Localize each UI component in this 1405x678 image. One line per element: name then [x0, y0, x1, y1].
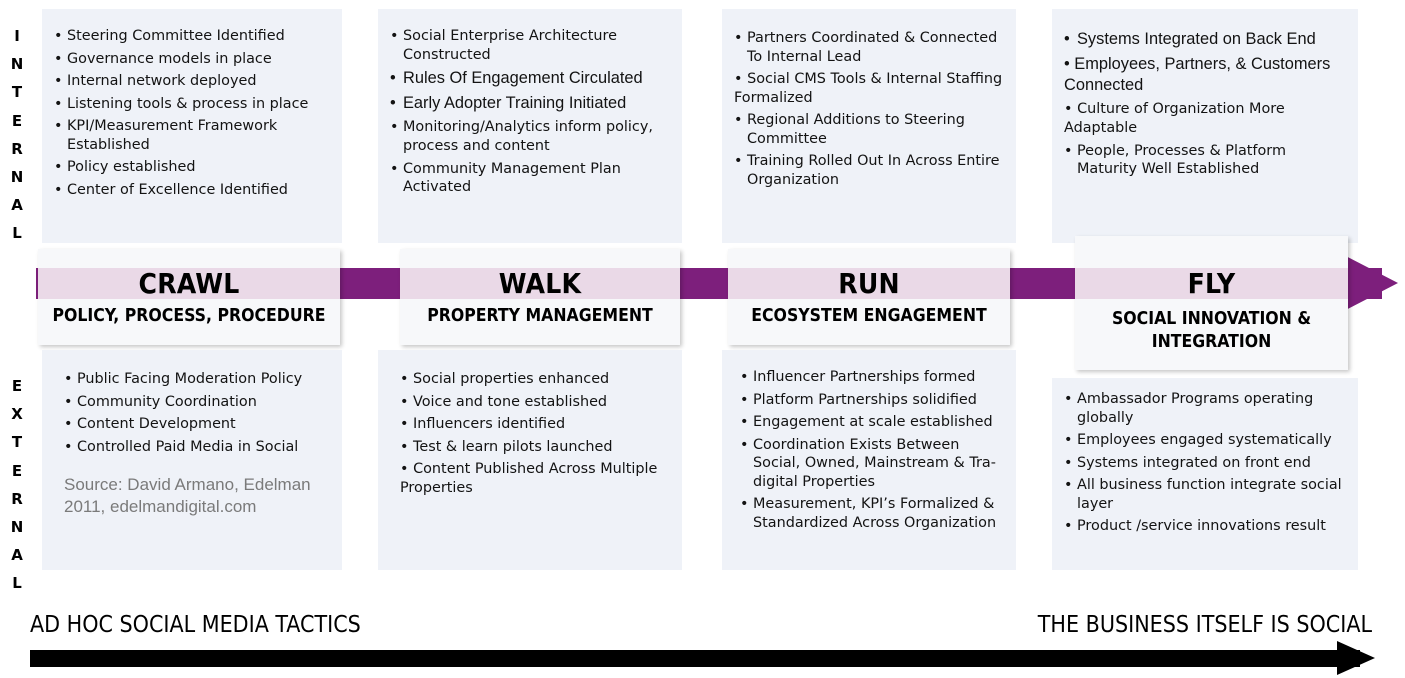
- list-item-text: Social CMS Tools & Internal Staffing For…: [734, 71, 1002, 106]
- list-item: • Content Published Across Multiple Prop…: [400, 460, 672, 497]
- internal-list-walk: Social Enterprise Architecture Construct…: [390, 27, 672, 197]
- list-item: Governance models in place: [54, 50, 332, 69]
- stage-subtitle: ECOSYSTEM ENGAGEMENT: [732, 305, 1006, 328]
- list-item: Content Development: [64, 415, 332, 434]
- list-item: Monitoring/Analytics inform policy, proc…: [390, 118, 672, 155]
- list-item: Early Adopter Training Initiated: [390, 93, 672, 114]
- axis-letter: T: [0, 78, 34, 106]
- list-item: Controlled Paid Media in Social: [64, 438, 332, 457]
- axis-letter: A: [0, 191, 34, 219]
- internal-panel-walk: Social Enterprise Architecture Construct…: [378, 9, 682, 243]
- list-item: • Social CMS Tools & Internal Staffing F…: [734, 70, 1008, 107]
- stage-box-fly[interactable]: FLY SOCIAL INNOVATION & INTEGRATION: [1075, 236, 1348, 370]
- list-item: • Culture of Organization More Adaptable: [1064, 100, 1348, 137]
- axis-letter: L: [0, 219, 34, 247]
- axis-letter: E: [0, 107, 34, 135]
- axis-letter: R: [0, 135, 34, 163]
- stage-title: CRAWL: [38, 265, 340, 302]
- external-panel-walk: Social properties enhanced Voice and ton…: [378, 350, 682, 570]
- external-panel-run: Influencer Partnerships formed Platform …: [722, 350, 1016, 570]
- list-item: Internal network deployed: [54, 72, 332, 91]
- stage-subtitle: PROPERTY MANAGEMENT: [404, 305, 676, 328]
- list-item: Platform Partnerships solidified: [740, 391, 1008, 410]
- list-item: Partners Coordinated & Connected To Inte…: [734, 29, 1008, 66]
- axis-label-external: E X T E R N A L: [0, 372, 34, 598]
- list-item: • Employees, Partners, & Customers Conne…: [1064, 54, 1348, 96]
- list-item: Test & learn pilots launched: [400, 438, 672, 457]
- stage-title: FLY: [1075, 265, 1348, 302]
- external-list-crawl: Public Facing Moderation Policy Communit…: [64, 370, 332, 456]
- list-item: Systems integrated on front end: [1064, 454, 1348, 473]
- source-credit: Source: David Armano, Edelman 2011, edel…: [64, 474, 332, 518]
- list-item: All business function integrate social l…: [1064, 476, 1348, 513]
- list-item: Influencer Partnerships formed: [740, 368, 1008, 387]
- internal-list-crawl: Steering Committee Identified Governance…: [54, 27, 332, 200]
- list-item: Rules Of Engagement Circulated: [390, 68, 672, 89]
- list-item: Steering Committee Identified: [54, 27, 332, 46]
- list-item: KPI/Measurement Framework Established: [54, 117, 332, 154]
- list-item: People, Processes & Platform Maturity We…: [1064, 142, 1348, 179]
- stage-box-run[interactable]: RUN ECOSYSTEM ENGAGEMENT: [728, 249, 1010, 345]
- stage-title: RUN: [728, 265, 1010, 302]
- maturity-arrow-head-icon: [1337, 641, 1375, 675]
- list-item: Public Facing Moderation Policy: [64, 370, 332, 389]
- list-item-text: Culture of Organization More Adaptable: [1064, 101, 1285, 136]
- internal-panel-crawl: Steering Committee Identified Governance…: [42, 9, 342, 243]
- list-item: Employees engaged systematically: [1064, 431, 1348, 450]
- list-item: Social Enterprise Architecture Construct…: [390, 27, 672, 64]
- axis-letter: I: [0, 22, 34, 50]
- stage-box-crawl[interactable]: CRAWL POLICY, PROCESS, PROCEDURE: [38, 249, 340, 345]
- axis-letter: E: [0, 457, 34, 485]
- stage-title: WALK: [400, 265, 680, 302]
- list-item: Community Coordination: [64, 393, 332, 412]
- external-list-run: Influencer Partnerships formed Platform …: [740, 368, 1008, 533]
- stage-subtitle: POLICY, PROCESS, PROCEDURE: [42, 305, 336, 328]
- list-item: Community Management Plan Activated: [390, 160, 672, 197]
- list-item: Listening tools & process in place: [54, 95, 332, 114]
- footer-label-left: AD HOC SOCIAL MEDIA TACTICS: [30, 612, 361, 638]
- internal-list-run: Partners Coordinated & Connected To Inte…: [734, 29, 1008, 190]
- list-item: Ambassador Programs operating globally: [1064, 390, 1348, 427]
- external-list-fly: Ambassador Programs operating globally E…: [1064, 390, 1348, 536]
- axis-letter: L: [0, 569, 34, 597]
- list-item: Regional Additions to Steering Committee: [734, 111, 1008, 148]
- list-item: Influencers identified: [400, 415, 672, 434]
- axis-letter: N: [0, 50, 34, 78]
- list-item-text: Employees, Partners, & Customers Connect…: [1064, 55, 1330, 94]
- list-item: Voice and tone established: [400, 393, 672, 412]
- external-list-walk: Social properties enhanced Voice and ton…: [400, 370, 672, 497]
- external-panel-fly: Ambassador Programs operating globally E…: [1052, 378, 1358, 570]
- list-item: Product /service innovations result: [1064, 517, 1348, 536]
- maturity-arrow-bar: [30, 650, 1360, 667]
- axis-letter: E: [0, 372, 34, 400]
- stage-subtitle: SOCIAL INNOVATION & INTEGRATION: [1079, 308, 1344, 354]
- axis-label-internal: I N T E R N A L: [0, 22, 34, 248]
- axis-letter: A: [0, 541, 34, 569]
- list-item: Systems Integrated on Back End: [1064, 29, 1348, 50]
- internal-panel-run: Partners Coordinated & Connected To Inte…: [722, 9, 1016, 243]
- internal-panel-fly: Systems Integrated on Back End • Employe…: [1052, 9, 1358, 243]
- axis-letter: X: [0, 400, 34, 428]
- list-item: Policy established: [54, 158, 332, 177]
- list-item-text: Content Published Across Multiple Proper…: [400, 461, 657, 496]
- list-item: Measurement, KPI’s Formalized & Standard…: [740, 495, 1008, 532]
- list-item: Social properties enhanced: [400, 370, 672, 389]
- axis-letter: N: [0, 513, 34, 541]
- list-item: Center of Excellence Identified: [54, 181, 332, 200]
- axis-letter: T: [0, 428, 34, 456]
- axis-letter: N: [0, 163, 34, 191]
- footer-label-right: THE BUSINESS ITSELF IS SOCIAL: [1038, 612, 1372, 638]
- stage-box-walk[interactable]: WALK PROPERTY MANAGEMENT: [400, 249, 680, 345]
- axis-letter: R: [0, 485, 34, 513]
- list-item: Training Rolled Out In Across Entire Org…: [734, 152, 1008, 189]
- list-item: Engagement at scale established: [740, 413, 1008, 432]
- external-panel-crawl: Public Facing Moderation Policy Communit…: [42, 350, 342, 570]
- list-item: Coordination Exists Between Social, Owne…: [740, 436, 1008, 492]
- internal-list-fly: Systems Integrated on Back End • Employe…: [1064, 29, 1348, 179]
